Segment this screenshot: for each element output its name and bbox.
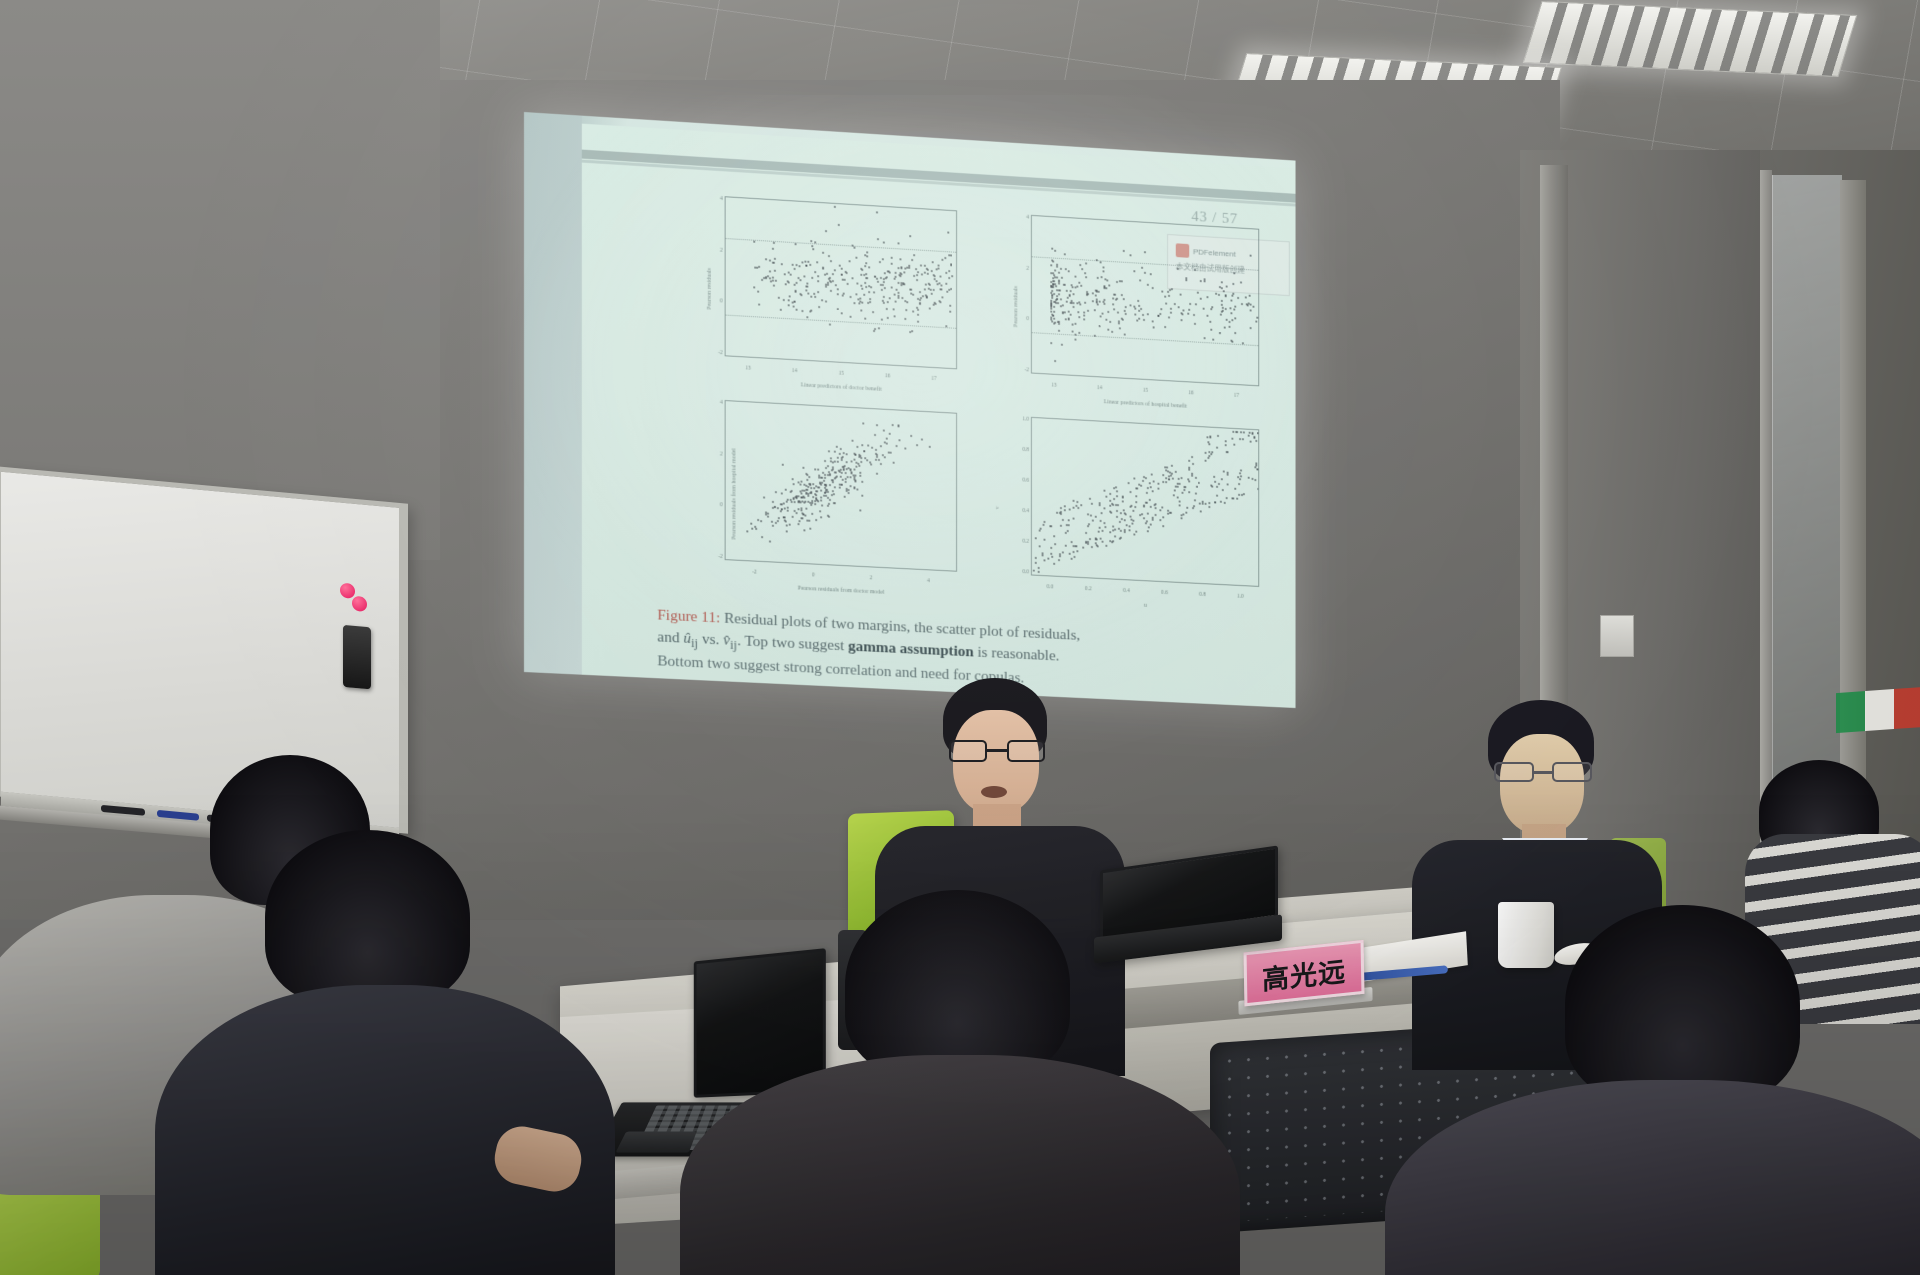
data-point (1151, 490, 1153, 492)
data-point (924, 288, 926, 290)
data-point (814, 500, 816, 502)
data-point (916, 279, 918, 281)
data-point (941, 296, 943, 298)
chart-xlabel: Pearson residuals from doctor model (725, 582, 957, 599)
data-point (757, 290, 759, 292)
data-point (1181, 319, 1183, 321)
data-point (1151, 473, 1153, 475)
data-point (1178, 505, 1180, 507)
data-point (783, 299, 785, 301)
data-point (796, 512, 798, 514)
data-point (807, 479, 809, 481)
data-point (1094, 334, 1096, 336)
data-point (763, 497, 765, 499)
data-point (940, 289, 942, 291)
data-point (1157, 483, 1159, 485)
data-point (827, 284, 829, 286)
data-point (1085, 541, 1087, 543)
data-point (1077, 302, 1079, 304)
data-point (1116, 510, 1118, 512)
data-point (1233, 273, 1235, 275)
data-point (1152, 321, 1154, 323)
data-point (1132, 523, 1134, 525)
data-point (1211, 306, 1213, 308)
data-point (854, 476, 856, 478)
xtick: 0 (812, 572, 815, 578)
data-point (1122, 496, 1124, 498)
data-point (804, 496, 806, 498)
data-point (1055, 302, 1057, 304)
data-point (841, 484, 843, 486)
data-point (932, 262, 934, 264)
data-point (1087, 310, 1089, 312)
data-point (841, 274, 843, 276)
data-point (919, 303, 921, 305)
data-point (1104, 490, 1106, 492)
data-point (1250, 310, 1252, 312)
data-point (1065, 524, 1067, 526)
data-point (849, 476, 851, 478)
data-point (844, 480, 846, 482)
data-point (815, 485, 817, 487)
data-point (1220, 314, 1222, 316)
chart-panel-bottom-right: v 1.0 0.8 0.6 0.4 0.2 0.0 0.0 0.2 0.4 (998, 411, 1265, 616)
data-point (1066, 530, 1068, 532)
data-point (876, 456, 878, 458)
data-point (851, 440, 853, 442)
data-point (1142, 480, 1144, 482)
data-point (892, 462, 894, 464)
data-point (853, 459, 855, 461)
data-point (1190, 303, 1192, 305)
data-point (802, 517, 804, 519)
data-point (898, 292, 900, 294)
data-point (934, 303, 936, 305)
pink-magnet-icon[interactable] (340, 583, 355, 599)
data-point (798, 265, 800, 267)
chart-yticks: 4 2 0 -2 (705, 399, 723, 560)
data-point (1092, 300, 1094, 302)
data-point (1197, 481, 1199, 483)
data-point (800, 294, 802, 296)
data-point (949, 310, 951, 312)
chart-plot-area (1031, 215, 1259, 386)
data-point (1112, 526, 1114, 528)
caption-line2-b: vs. (698, 630, 723, 648)
data-point (801, 310, 803, 312)
data-point (754, 287, 756, 289)
data-point (838, 224, 840, 226)
data-point (878, 459, 880, 461)
data-point (1048, 558, 1050, 560)
data-point (1099, 325, 1101, 327)
data-point (922, 295, 924, 297)
data-point (1092, 519, 1094, 521)
data-point (889, 451, 891, 453)
data-point (829, 474, 831, 476)
ytick: -2 (718, 554, 723, 560)
data-point (1113, 498, 1115, 500)
data-point (1226, 497, 1228, 499)
data-point (1208, 506, 1210, 508)
data-point (894, 293, 896, 295)
data-point (811, 487, 813, 489)
data-point (1117, 504, 1119, 506)
data-point (865, 286, 867, 288)
attendee-leather-jacket (680, 1055, 1240, 1275)
data-point (1116, 491, 1118, 493)
data-point (1203, 307, 1205, 309)
data-point (805, 290, 807, 292)
data-point (830, 290, 832, 292)
data-point (894, 277, 896, 279)
chart-yticks: 4 2 0 -2 (705, 195, 723, 356)
laptop-trackpad[interactable] (615, 1132, 696, 1153)
data-point (1059, 555, 1061, 557)
data-point (796, 309, 798, 311)
light-switch[interactable] (1600, 615, 1634, 657)
data-point (834, 461, 836, 463)
data-point (1068, 293, 1070, 295)
data-point (898, 440, 900, 442)
data-point (820, 500, 822, 502)
data-point (1174, 489, 1176, 491)
data-point (1103, 508, 1105, 510)
data-point (832, 280, 834, 282)
data-point (769, 540, 771, 542)
data-point (1227, 473, 1229, 475)
data-point (823, 495, 825, 497)
data-point (1059, 289, 1061, 291)
data-point (767, 513, 769, 515)
data-point (1144, 251, 1146, 253)
data-point (810, 527, 812, 529)
data-point (820, 517, 822, 519)
data-point (1078, 282, 1080, 284)
data-point (1095, 538, 1097, 540)
data-point (1195, 476, 1197, 478)
data-point (747, 530, 749, 532)
data-point (920, 265, 922, 267)
person-attendee-laptop (205, 830, 575, 1275)
data-point (850, 316, 852, 318)
data-point (1206, 296, 1208, 298)
data-point (797, 523, 799, 525)
data-point (919, 299, 921, 301)
data-point (1209, 321, 1211, 323)
caption-line2-c: . Top two suggest (737, 632, 848, 654)
xtick: 16 (885, 373, 890, 379)
data-point (793, 284, 795, 286)
xtick: 13 (1051, 383, 1056, 389)
data-point (1147, 487, 1149, 489)
ytick: 0 (1026, 316, 1029, 322)
data-point (837, 308, 839, 310)
data-point (1241, 303, 1243, 305)
data-point (758, 266, 760, 268)
data-point (1072, 324, 1074, 326)
data-point (1177, 478, 1179, 480)
data-point (1225, 294, 1227, 296)
data-point (815, 519, 817, 521)
data-point (1210, 453, 1212, 455)
data-point (1138, 310, 1140, 312)
data-point (1139, 279, 1141, 281)
ytick: 0.6 (1022, 477, 1029, 483)
data-point (1179, 501, 1181, 503)
data-point (913, 254, 915, 256)
data-point (805, 264, 807, 266)
data-point (1133, 510, 1135, 512)
ytick: 0.2 (1022, 539, 1029, 545)
data-point (757, 519, 759, 521)
data-point (1256, 317, 1258, 319)
data-point (787, 280, 789, 282)
data-point (827, 490, 829, 492)
xtick: 0.4 (1123, 588, 1130, 594)
data-point (949, 305, 951, 307)
xtick: 15 (839, 371, 844, 377)
data-point (837, 293, 839, 295)
data-point (1112, 529, 1114, 531)
data-point (1058, 283, 1060, 285)
data-point (876, 424, 878, 426)
data-point (869, 298, 871, 300)
ytick: -2 (1025, 367, 1029, 373)
data-point (912, 294, 914, 296)
data-point (946, 290, 948, 292)
data-point (1068, 524, 1070, 526)
data-point (845, 461, 847, 463)
data-point (1217, 435, 1219, 437)
data-point (1060, 524, 1062, 526)
data-point (808, 519, 810, 521)
chart-yticks: 1.0 0.8 0.6 0.4 0.2 0.0 (1012, 416, 1029, 576)
figure-tag: Figure 11: (657, 607, 720, 627)
data-point (840, 459, 842, 461)
data-point (784, 519, 786, 521)
data-point (1135, 531, 1137, 533)
data-point (801, 493, 803, 495)
data-point (1144, 272, 1146, 274)
data-point (881, 258, 883, 260)
data-point (861, 285, 863, 287)
data-point (830, 260, 832, 262)
data-point (1243, 432, 1245, 434)
data-point (859, 472, 861, 474)
data-point (1146, 492, 1148, 494)
data-point (1129, 491, 1131, 493)
data-point (1194, 500, 1196, 502)
data-point (1066, 289, 1068, 291)
data-point (756, 266, 758, 268)
data-point (876, 278, 878, 280)
chart-plot-area (725, 196, 957, 369)
data-point (1218, 483, 1220, 485)
data-point (795, 496, 797, 498)
data-point (872, 311, 874, 313)
data-point (1239, 472, 1241, 474)
data-point (1072, 293, 1074, 295)
data-point (945, 271, 947, 273)
data-point (831, 494, 833, 496)
data-point (1167, 512, 1169, 514)
data-point (1141, 266, 1143, 268)
data-point (795, 291, 797, 293)
data-point (1097, 277, 1099, 279)
data-point (1080, 504, 1082, 506)
data-point (1087, 513, 1089, 515)
data-point (1060, 507, 1062, 509)
data-point (939, 275, 941, 277)
data-point (789, 524, 791, 526)
slide-header-bar (582, 150, 1296, 203)
data-point (775, 280, 777, 282)
data-point (875, 459, 877, 461)
data-point (1121, 281, 1123, 283)
data-point (1192, 507, 1194, 509)
data-point (808, 476, 810, 478)
data-point (1258, 469, 1260, 471)
data-point (1257, 433, 1259, 435)
data-point (865, 273, 867, 275)
data-point (882, 284, 884, 286)
data-point (828, 503, 830, 505)
data-point (786, 525, 788, 527)
data-point (785, 283, 787, 285)
data-point (1186, 507, 1188, 509)
data-point (1096, 304, 1098, 306)
data-point (849, 296, 851, 298)
data-point (1064, 253, 1066, 255)
data-point (821, 504, 823, 506)
data-point (1108, 285, 1110, 287)
data-point (1150, 506, 1152, 508)
caption-sub-ij-2: ij (730, 637, 737, 652)
data-point (895, 300, 897, 302)
attendee-dark-jacket (155, 985, 615, 1275)
data-point (1248, 434, 1250, 436)
data-point (1157, 314, 1159, 316)
data-point (806, 285, 808, 287)
data-point (1205, 503, 1207, 505)
data-point (1091, 503, 1093, 505)
data-point (1058, 323, 1060, 325)
data-point (895, 271, 897, 273)
board-eraser[interactable] (343, 625, 371, 690)
data-point (1125, 514, 1127, 516)
ytick: 0.0 (1022, 569, 1029, 575)
ytick: 0.8 (1022, 447, 1029, 453)
data-point (1052, 280, 1054, 282)
data-point (793, 483, 795, 485)
data-point (1050, 342, 1052, 344)
data-point (761, 279, 763, 281)
data-point (1249, 441, 1251, 443)
data-point (897, 242, 899, 244)
data-point (1133, 478, 1135, 480)
data-point (869, 301, 871, 303)
data-point (854, 486, 856, 488)
data-point (781, 493, 783, 495)
data-point (877, 238, 879, 240)
data-point (792, 306, 794, 308)
data-point (1252, 478, 1254, 480)
data-point (906, 301, 908, 303)
data-point (917, 309, 919, 311)
data-point (904, 448, 906, 450)
data-point (1058, 559, 1060, 561)
data-point (1255, 321, 1257, 323)
data-point (784, 273, 786, 275)
data-point (1162, 516, 1164, 518)
data-point (1108, 329, 1110, 331)
data-point (1056, 295, 1058, 297)
data-point (1117, 312, 1119, 314)
data-point (891, 263, 893, 265)
person-attendee-leather (740, 890, 1180, 1275)
xtick: 0.2 (1085, 586, 1092, 592)
data-point (767, 275, 769, 277)
data-point (787, 507, 789, 509)
data-point (1221, 479, 1223, 481)
data-point (1174, 303, 1176, 305)
data-point (1054, 269, 1056, 271)
data-point (1180, 477, 1182, 479)
data-point (795, 264, 797, 266)
data-point (902, 297, 904, 299)
data-point (873, 330, 875, 332)
data-point (1146, 313, 1148, 315)
data-point (1129, 305, 1131, 307)
data-point (1052, 286, 1054, 288)
data-point (1101, 276, 1103, 278)
nameplate-text: 高光远 (1262, 949, 1347, 997)
data-point (1188, 460, 1190, 462)
data-point (901, 267, 903, 269)
data-point (827, 505, 829, 507)
data-point (1098, 531, 1100, 533)
data-point (1229, 321, 1231, 323)
data-point (821, 490, 823, 492)
data-point (1099, 261, 1101, 263)
data-point (1086, 291, 1088, 293)
chart-yticks: 4 2 0 -2 (1012, 214, 1029, 374)
data-point (859, 465, 861, 467)
data-point (1099, 315, 1101, 317)
data-point (1195, 303, 1197, 305)
data-point (1106, 496, 1108, 498)
data-point (1223, 290, 1225, 292)
data-point (1213, 476, 1215, 478)
data-point (1138, 305, 1140, 307)
data-point (859, 509, 861, 511)
ytick: 0 (720, 299, 723, 305)
data-point (1055, 360, 1057, 362)
data-point (1100, 512, 1102, 514)
data-point (917, 272, 919, 274)
data-point (817, 280, 819, 282)
data-point (886, 301, 888, 303)
data-point (1051, 556, 1053, 558)
data-point (1124, 334, 1126, 336)
pink-magnet-icon[interactable] (352, 596, 367, 612)
data-point (849, 485, 851, 487)
data-point (786, 501, 788, 503)
data-point (1115, 528, 1117, 530)
data-point (1182, 309, 1184, 311)
data-point (1222, 306, 1224, 308)
